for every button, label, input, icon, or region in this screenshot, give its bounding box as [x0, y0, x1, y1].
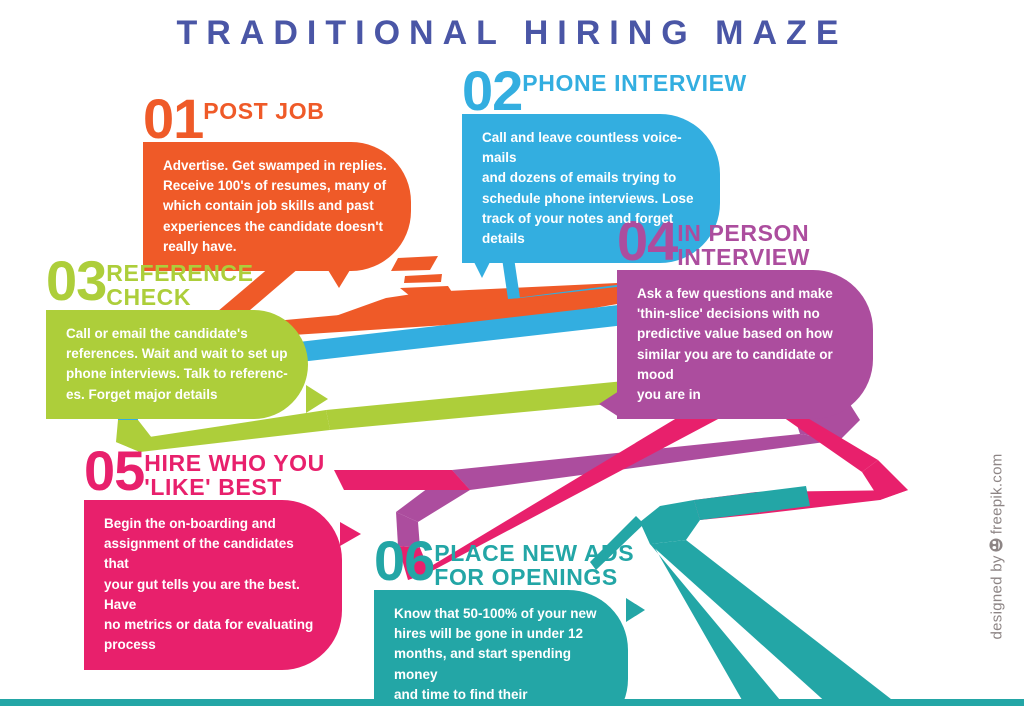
- step-01-number: 01: [143, 96, 203, 142]
- infographic-canvas: TRADITIONAL HIRING MAZE: [0, 0, 1024, 706]
- freepik-smiley-icon: [989, 537, 1008, 552]
- step-05-title: HIRE WHO YOU 'LIKE' BEST: [144, 448, 325, 500]
- step-01-body: Advertise. Get swamped in replies. Recei…: [163, 158, 387, 254]
- step-04-body: Ask a few questions and make 'thin-slice…: [637, 286, 833, 402]
- step-03-body: Call or email the candidate's references…: [66, 326, 288, 402]
- step-06-number: 06: [374, 538, 434, 584]
- step-05-bubble: Begin the on-boarding and assignment of …: [84, 500, 342, 670]
- step-05-bubble-tail: [340, 522, 361, 546]
- step-06-header: 06 PLACE NEW ADS FOR OPENINGS: [374, 538, 634, 590]
- step-01-header: 01 POST JOB: [143, 96, 411, 142]
- step-03-bubble-tail: [306, 385, 328, 413]
- step-04-bubble: Ask a few questions and make 'thin-slice…: [617, 270, 873, 420]
- step-02-number: 02: [462, 68, 522, 114]
- credit-prefix: designed by: [989, 555, 1006, 639]
- step-04-bubble-tail: [599, 391, 619, 417]
- step-04-title: IN PERSON INTERVIEW: [677, 218, 810, 270]
- step-06-body: Know that 50-100% of your new hires will…: [394, 606, 597, 706]
- step-02-title: PHONE INTERVIEW: [522, 68, 747, 96]
- step-06-bubble: Know that 50-100% of your new hires will…: [374, 590, 628, 706]
- step-01[interactable]: 01 POST JOB Advertise. Get swamped in re…: [143, 96, 411, 271]
- step-01-bubble: Advertise. Get swamped in replies. Recei…: [143, 142, 411, 271]
- step-02-bubble-tail: [474, 262, 490, 278]
- step-06-bubble-tail: [626, 598, 645, 622]
- step-03-bubble: Call or email the candidate's references…: [46, 310, 308, 419]
- credit-site: freepik.com: [989, 453, 1006, 534]
- step-05[interactable]: 05 HIRE WHO YOU 'LIKE' BEST Begin the on…: [84, 448, 342, 670]
- step-03[interactable]: 03 REFERENCE CHECK Call or email the can…: [46, 258, 308, 419]
- step-03-number: 03: [46, 258, 106, 304]
- step-05-header: 05 HIRE WHO YOU 'LIKE' BEST: [84, 448, 342, 500]
- step-05-body: Begin the on-boarding and assignment of …: [104, 516, 313, 653]
- step-04[interactable]: 04 IN PERSON INTERVIEW Ask a few questio…: [617, 218, 873, 419]
- step-06[interactable]: 06 PLACE NEW ADS FOR OPENINGS Know that …: [374, 538, 634, 706]
- step-03-header: 03 REFERENCE CHECK: [46, 258, 308, 310]
- step-02-header: 02 PHONE INTERVIEW: [462, 68, 747, 114]
- step-01-bubble-tail: [328, 270, 350, 288]
- step-05-number: 05: [84, 448, 144, 494]
- step-01-title: POST JOB: [203, 96, 324, 124]
- step-03-title: REFERENCE CHECK: [106, 258, 253, 310]
- maze-segment-teal: [590, 486, 900, 706]
- freepik-credit[interactable]: designed byfreepik.com: [989, 380, 1008, 640]
- step-06-title: PLACE NEW ADS FOR OPENINGS: [434, 538, 634, 590]
